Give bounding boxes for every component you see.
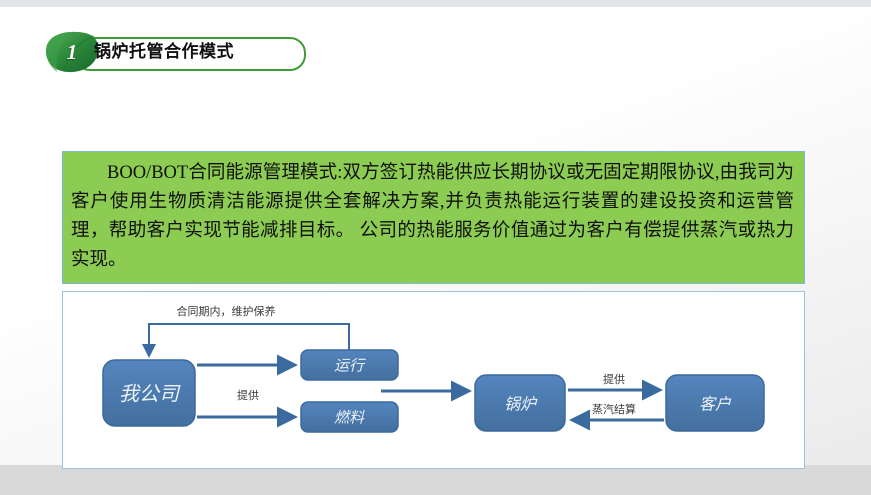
edge-label-provide-left: 提供 [237, 388, 259, 402]
page-title: 锅炉托管合作模式 [94, 37, 234, 67]
top-gray-band [0, 0, 871, 7]
slide-page: 1 锅炉托管合作模式 BOO/BOT合同能源管理模式:双方签订热能供应长期协议或… [0, 0, 871, 495]
node-operation[interactable]: 运行 [301, 350, 398, 380]
flow-diagram-panel: 我公司 运行 燃料 锅炉 客户 [62, 291, 805, 469]
description-text: BOO/BOT合同能源管理模式:双方签订热能供应长期协议或无固定期限协议,由我司… [71, 159, 794, 275]
node-fuel-label: 燃料 [334, 409, 365, 427]
node-fuel[interactable]: 燃料 [301, 402, 398, 432]
node-customer-label: 客户 [699, 395, 732, 414]
slide-title-block: 1 锅炉托管合作模式 [44, 27, 304, 75]
node-boiler[interactable]: 锅炉 [475, 375, 565, 431]
node-company-label: 我公司 [119, 382, 181, 406]
slide-canvas: 1 锅炉托管合作模式 BOO/BOT合同能源管理模式:双方签订热能供应长期协议或… [0, 7, 871, 465]
leaf-icon [44, 31, 100, 73]
edge-label-provide-right: 提供 [603, 372, 625, 386]
node-boiler-label: 锅炉 [504, 395, 538, 414]
flow-diagram: 我公司 运行 燃料 锅炉 客户 [63, 292, 804, 468]
edge-label-steam-settlement: 蒸汽结算 [592, 402, 636, 416]
node-company[interactable]: 我公司 [103, 360, 195, 426]
node-operation-label: 运行 [334, 357, 366, 375]
description-panel: BOO/BOT合同能源管理模式:双方签订热能供应长期协议或无固定期限协议,由我司… [62, 151, 805, 284]
node-customer[interactable]: 客户 [666, 375, 764, 431]
edge-label-maintenance: 合同期内，维护保养 [177, 304, 276, 318]
